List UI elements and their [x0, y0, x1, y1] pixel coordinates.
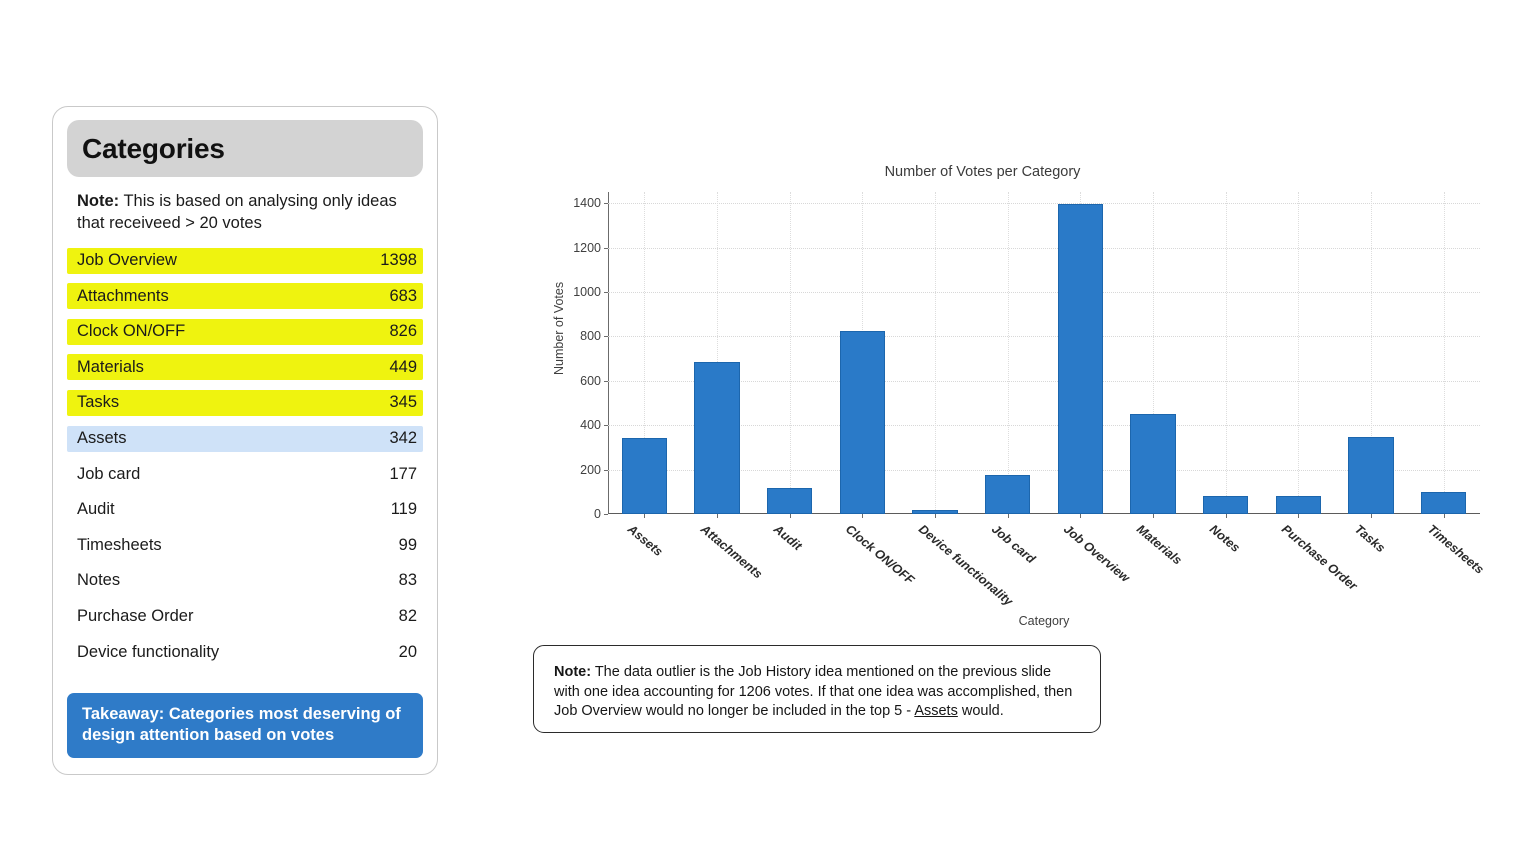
- category-row[interactable]: Attachments683: [67, 283, 423, 309]
- category-votes: 683: [389, 287, 417, 306]
- chart-y-tick-mark: [604, 203, 608, 204]
- chart-y-axis-label: Number of Votes: [552, 282, 566, 375]
- category-name: Device functionality: [77, 643, 219, 662]
- chart-y-tick-mark: [604, 470, 608, 471]
- chart-y-tick-mark: [604, 425, 608, 426]
- chart-x-tick-mark: [1153, 514, 1154, 518]
- chart-vertical-gridline: [790, 192, 791, 514]
- chart-y-tick-mark: [604, 514, 608, 515]
- chart-y-tick-label: 1200: [573, 241, 601, 255]
- chart-bar[interactable]: [694, 362, 739, 514]
- chart-x-tick-mark: [1008, 514, 1009, 518]
- chart-y-tick-label: 800: [580, 329, 601, 343]
- categories-card: Categories Note: This is based on analys…: [52, 106, 438, 775]
- chart-x-tick-label: Audit: [771, 522, 804, 553]
- chart-note-box: Note: The data outlier is the Job Histor…: [533, 645, 1101, 733]
- category-row[interactable]: Timesheets99: [67, 532, 423, 558]
- chart-title: Number of Votes per Category: [520, 164, 1500, 180]
- chart-bar[interactable]: [1348, 437, 1393, 514]
- takeaway-text: Takeaway: Categories most deserving of d…: [82, 705, 401, 744]
- chart-bar[interactable]: [1421, 492, 1466, 514]
- chart-y-tick-mark: [604, 248, 608, 249]
- chart-y-tick-label: 0: [594, 507, 601, 521]
- chart-bar[interactable]: [985, 475, 1030, 514]
- chart-x-tick-label: Purchase Order: [1279, 522, 1360, 593]
- chart-x-tick-label: Materials: [1134, 522, 1185, 568]
- category-row[interactable]: Audit119: [67, 497, 423, 523]
- chart-x-tick-label: Job card: [989, 522, 1038, 566]
- category-row[interactable]: Job Overview1398: [67, 248, 423, 274]
- category-name: Materials: [77, 358, 144, 377]
- chart-y-tick-mark: [604, 381, 608, 382]
- chart-x-tick-label: Clock ON/OFF: [843, 522, 917, 587]
- category-row[interactable]: Clock ON/OFF826: [67, 319, 423, 345]
- category-votes: 99: [399, 536, 417, 555]
- chart-y-tick-mark: [604, 336, 608, 337]
- chart-x-tick-mark: [1080, 514, 1081, 518]
- analysis-note-text: This is based on analysing only ideas th…: [77, 192, 397, 232]
- chart-bar[interactable]: [622, 438, 667, 514]
- category-name: Purchase Order: [77, 607, 193, 626]
- chart-bar[interactable]: [1203, 496, 1248, 514]
- category-votes: 449: [389, 358, 417, 377]
- chart-x-tick-mark: [790, 514, 791, 518]
- category-votes: 20: [399, 643, 417, 662]
- chart-x-tick-mark: [1298, 514, 1299, 518]
- category-name: Attachments: [77, 287, 169, 306]
- category-row[interactable]: Job card177: [67, 461, 423, 487]
- chart-x-tick-label: Attachments: [698, 522, 765, 581]
- chart-bar[interactable]: [840, 331, 885, 514]
- category-votes: 83: [399, 571, 417, 590]
- category-votes: 82: [399, 607, 417, 626]
- chart-note-label: Note:: [554, 664, 591, 680]
- chart-bar[interactable]: [1130, 414, 1175, 514]
- analysis-note-label: Note:: [77, 192, 119, 210]
- chart-gridline: [608, 292, 1480, 293]
- chart-x-tick-mark: [1371, 514, 1372, 518]
- chart-x-tick-label: Job Overview: [1061, 522, 1132, 585]
- chart-bar[interactable]: [1276, 496, 1321, 514]
- chart-x-tick-mark: [862, 514, 863, 518]
- chart-gridline: [608, 336, 1480, 337]
- chart-x-tick-mark: [717, 514, 718, 518]
- category-votes: 1398: [380, 251, 417, 270]
- category-name: Audit: [77, 500, 115, 519]
- category-row[interactable]: Notes83: [67, 568, 423, 594]
- category-name: Notes: [77, 571, 120, 590]
- category-votes: 345: [389, 393, 417, 412]
- chart-gridline: [608, 248, 1480, 249]
- chart-vertical-gridline: [1298, 192, 1299, 514]
- category-name: Timesheets: [77, 536, 162, 555]
- chart-plot-area: 0200400600800100012001400AssetsAttachmen…: [608, 192, 1480, 514]
- chart-y-tick-label: 600: [580, 374, 601, 388]
- chart-y-tick-label: 200: [580, 463, 601, 477]
- chart-x-tick-label: Assets: [625, 522, 665, 559]
- category-votes: 177: [389, 465, 417, 484]
- category-name: Job card: [77, 465, 140, 484]
- chart-y-tick-label: 1400: [573, 196, 601, 210]
- category-row[interactable]: Purchase Order82: [67, 603, 423, 629]
- chart-bar[interactable]: [767, 488, 812, 514]
- chart-x-tick-label: Notes: [1207, 522, 1243, 555]
- votes-bar-chart: Number of Votes per Category Number of V…: [520, 150, 1500, 650]
- chart-x-tick-mark: [1444, 514, 1445, 518]
- page-title: Categories: [82, 133, 225, 165]
- chart-vertical-gridline: [1008, 192, 1009, 514]
- category-name: Assets: [77, 429, 127, 448]
- category-votes: 826: [389, 322, 417, 341]
- chart-y-tick-mark: [604, 292, 608, 293]
- category-name: Job Overview: [77, 251, 177, 270]
- chart-y-tick-label: 400: [580, 418, 601, 432]
- category-name: Clock ON/OFF: [77, 322, 185, 341]
- chart-gridline: [608, 203, 1480, 204]
- chart-note-part2: would.: [958, 703, 1004, 719]
- category-row[interactable]: Materials449: [67, 354, 423, 380]
- takeaway-banner: Takeaway: Categories most deserving of d…: [67, 693, 423, 758]
- card-header: Categories: [67, 120, 423, 177]
- category-row[interactable]: Assets342: [67, 426, 423, 452]
- chart-x-tick-label: Tasks: [1352, 522, 1388, 555]
- category-votes: 119: [391, 500, 417, 519]
- chart-bar[interactable]: [1058, 204, 1103, 514]
- category-votes: 342: [389, 429, 417, 448]
- chart-vertical-gridline: [935, 192, 936, 514]
- analysis-note: Note: This is based on analysing only id…: [67, 191, 423, 235]
- category-row[interactable]: Device functionality20: [67, 639, 423, 665]
- chart-note-assets-link: Assets: [914, 703, 958, 719]
- chart-x-tick-mark: [1226, 514, 1227, 518]
- chart-x-tick-label: Timesheets: [1425, 522, 1487, 577]
- chart-x-axis-label: Category: [608, 614, 1480, 628]
- chart-vertical-gridline: [1226, 192, 1227, 514]
- chart-x-tick-mark: [644, 514, 645, 518]
- chart-y-tick-label: 1000: [573, 285, 601, 299]
- chart-vertical-gridline: [1444, 192, 1445, 514]
- chart-x-tick-mark: [935, 514, 936, 518]
- category-list: Job Overview1398Attachments683Clock ON/O…: [67, 248, 423, 666]
- category-row[interactable]: Tasks345: [67, 390, 423, 416]
- category-name: Tasks: [77, 393, 119, 412]
